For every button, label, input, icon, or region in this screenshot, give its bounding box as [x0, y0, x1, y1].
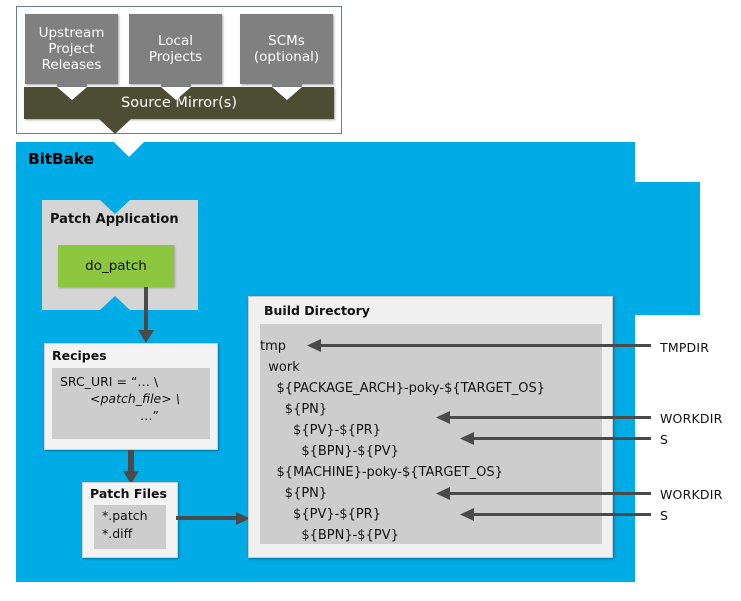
label-workdir-1: WORKDIR — [660, 411, 722, 426]
arrow-patch-files-to-build-line — [176, 516, 238, 520]
label-tmpdir: TMPDIR — [660, 340, 709, 355]
arrow-s-2-line — [471, 513, 651, 516]
local-projects-line-1: Local — [147, 33, 204, 49]
scms-line-1: SCMs — [252, 33, 321, 49]
label-workdir-2: WORKDIR — [660, 487, 722, 502]
patch-files-item-0: *.patch — [102, 507, 166, 525]
scms-line-2: (optional) — [252, 49, 321, 65]
patch-files-item-1: *.diff — [102, 525, 166, 543]
patch-application-title: Patch Application — [50, 212, 179, 227]
notch-upstream-icon — [57, 87, 87, 100]
upstream-project-releases-box: Upstream Project Releases — [25, 14, 118, 84]
build-tree-line-2: ${PACKAGE_ARCH}-poky-${TARGET_OS} — [260, 378, 602, 399]
build-directory-tree: tmp work ${PACKAGE_ARCH}-poky-${TARGET_O… — [260, 324, 602, 544]
arrow-workdir-2-line — [447, 492, 651, 495]
do-patch-label: do_patch — [85, 258, 147, 274]
build-tree-line-6: ${MACHINE}-poky-${TARGET_OS} — [260, 462, 602, 483]
patch-files-list: *.patch *.diff — [94, 505, 166, 549]
local-projects-box: Local Projects — [129, 14, 222, 84]
upstream-line-2: Project — [37, 41, 107, 57]
label-s-1: S — [660, 432, 668, 447]
upstream-line-1: Upstream — [37, 25, 107, 41]
arrow-s-1-line — [471, 437, 651, 440]
recipes-code-line-3: …” — [52, 407, 210, 424]
recipes-title: Recipes — [52, 348, 107, 363]
build-tree-line-9: ${BPN}-${PV} — [260, 525, 602, 546]
upstream-line-3: Releases — [37, 57, 107, 73]
build-tree-line-5: ${BPN}-${PV} — [260, 441, 602, 462]
notch-scms-icon — [272, 87, 302, 100]
arrow-tmpdir-line — [318, 344, 651, 347]
scms-optional-box: SCMs (optional) — [240, 14, 333, 84]
bitbake-label: BitBake — [28, 150, 94, 168]
recipes-src-uri-code: SRC_URI = “… \ <patch_file> \ …” — [52, 368, 210, 439]
do-patch-task[interactable]: do_patch — [58, 245, 174, 287]
patch-files-title: Patch Files — [90, 486, 167, 501]
recipes-code-line-2: <patch_file> \ — [52, 390, 210, 407]
local-projects-line-2: Projects — [147, 49, 204, 65]
source-mirror-bar: Source Mirror(s) — [24, 87, 334, 119]
label-s-2: S — [660, 508, 668, 523]
build-directory-title: Build Directory — [264, 303, 370, 318]
recipes-code-line-1: SRC_URI = “… \ — [52, 373, 210, 390]
build-tree-line-1: work — [260, 357, 602, 378]
arrow-do-patch-to-recipes-line — [144, 287, 148, 332]
arrow-workdir-1-line — [447, 416, 651, 419]
source-mirror-label: Source Mirror(s) — [121, 95, 237, 111]
